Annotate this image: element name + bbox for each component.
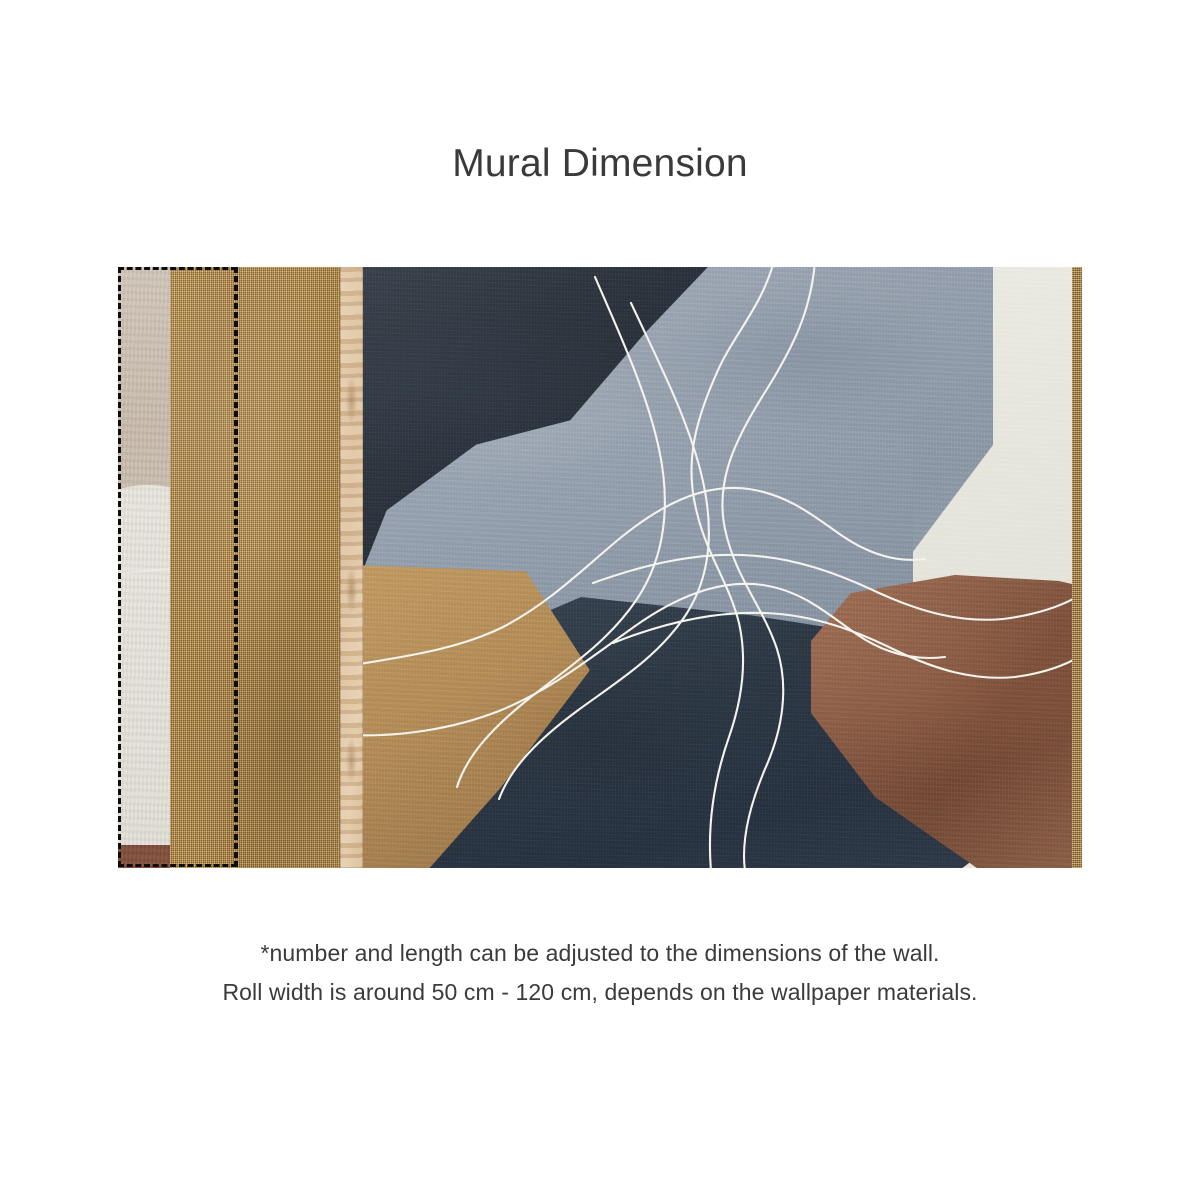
roll-width-dashed-box (118, 267, 237, 867)
mural-preview (118, 267, 1082, 868)
page-title: Mural Dimension (0, 142, 1200, 187)
wood-knot-icon (346, 567, 357, 613)
caption-line-1: *number and length can be adjusted to th… (0, 934, 1200, 973)
roll-width-dashed-divider (235, 267, 238, 867)
wood-knot-icon (346, 377, 357, 423)
page-root: Mural Dimension (0, 0, 1200, 1200)
mural-canvas (363, 267, 1074, 868)
caption-line-2: Roll width is around 50 cm - 120 cm, dep… (0, 973, 1200, 1012)
wooden-batten (340, 267, 363, 868)
wood-knot-icon (346, 737, 357, 783)
mural-artwork (118, 267, 1082, 868)
caption-block: *number and length can be adjusted to th… (0, 934, 1200, 1012)
right-roll-edge (1072, 267, 1082, 868)
